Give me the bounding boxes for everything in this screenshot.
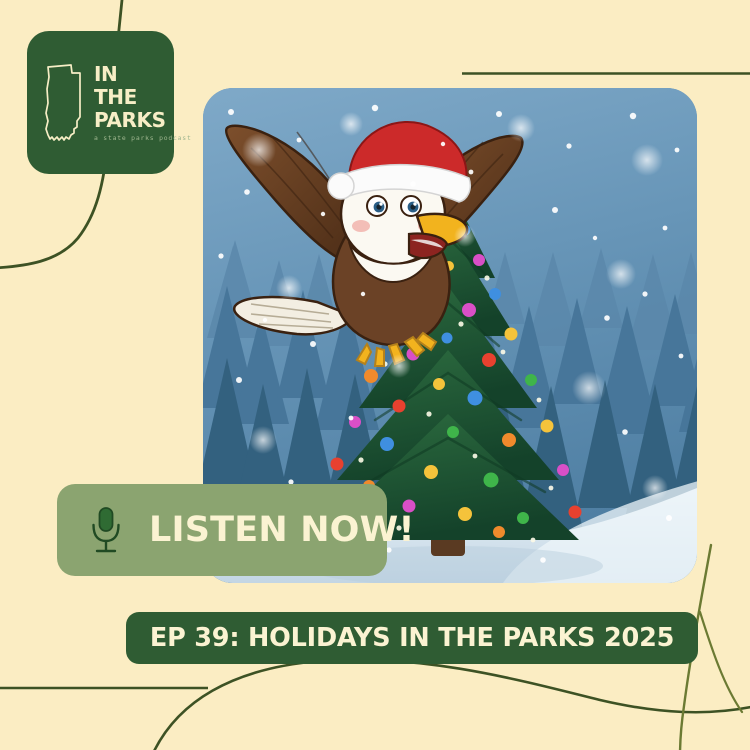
listen-now-label: LISTEN NOW! (149, 510, 415, 550)
bottom-right-arc (150, 660, 750, 750)
microphone-icon (89, 506, 123, 554)
indiana-state-outline-icon (41, 63, 88, 145)
in-the-parks-logo[interactable]: IN THE PARKS a state parks podcast (27, 31, 174, 174)
logo-line-3: PARKS (94, 110, 166, 130)
podcast-episode-poster: IN THE PARKS a state parks podcast LISTE… (0, 0, 750, 750)
episode-title-bar[interactable]: EP 39: HOLIDAYS IN THE PARKS 2025 (126, 612, 698, 664)
logo-tagline: a state parks podcast (94, 135, 192, 141)
listen-now-button[interactable]: LISTEN NOW! (57, 484, 387, 576)
bottom-right-secondary-arc (700, 612, 742, 712)
episode-title-text: EP 39: HOLIDAYS IN THE PARKS 2025 (150, 623, 674, 653)
logo-line-2: THE (94, 87, 137, 107)
logo-line-1: IN (94, 64, 117, 84)
santa-hat-pompom (328, 173, 354, 199)
